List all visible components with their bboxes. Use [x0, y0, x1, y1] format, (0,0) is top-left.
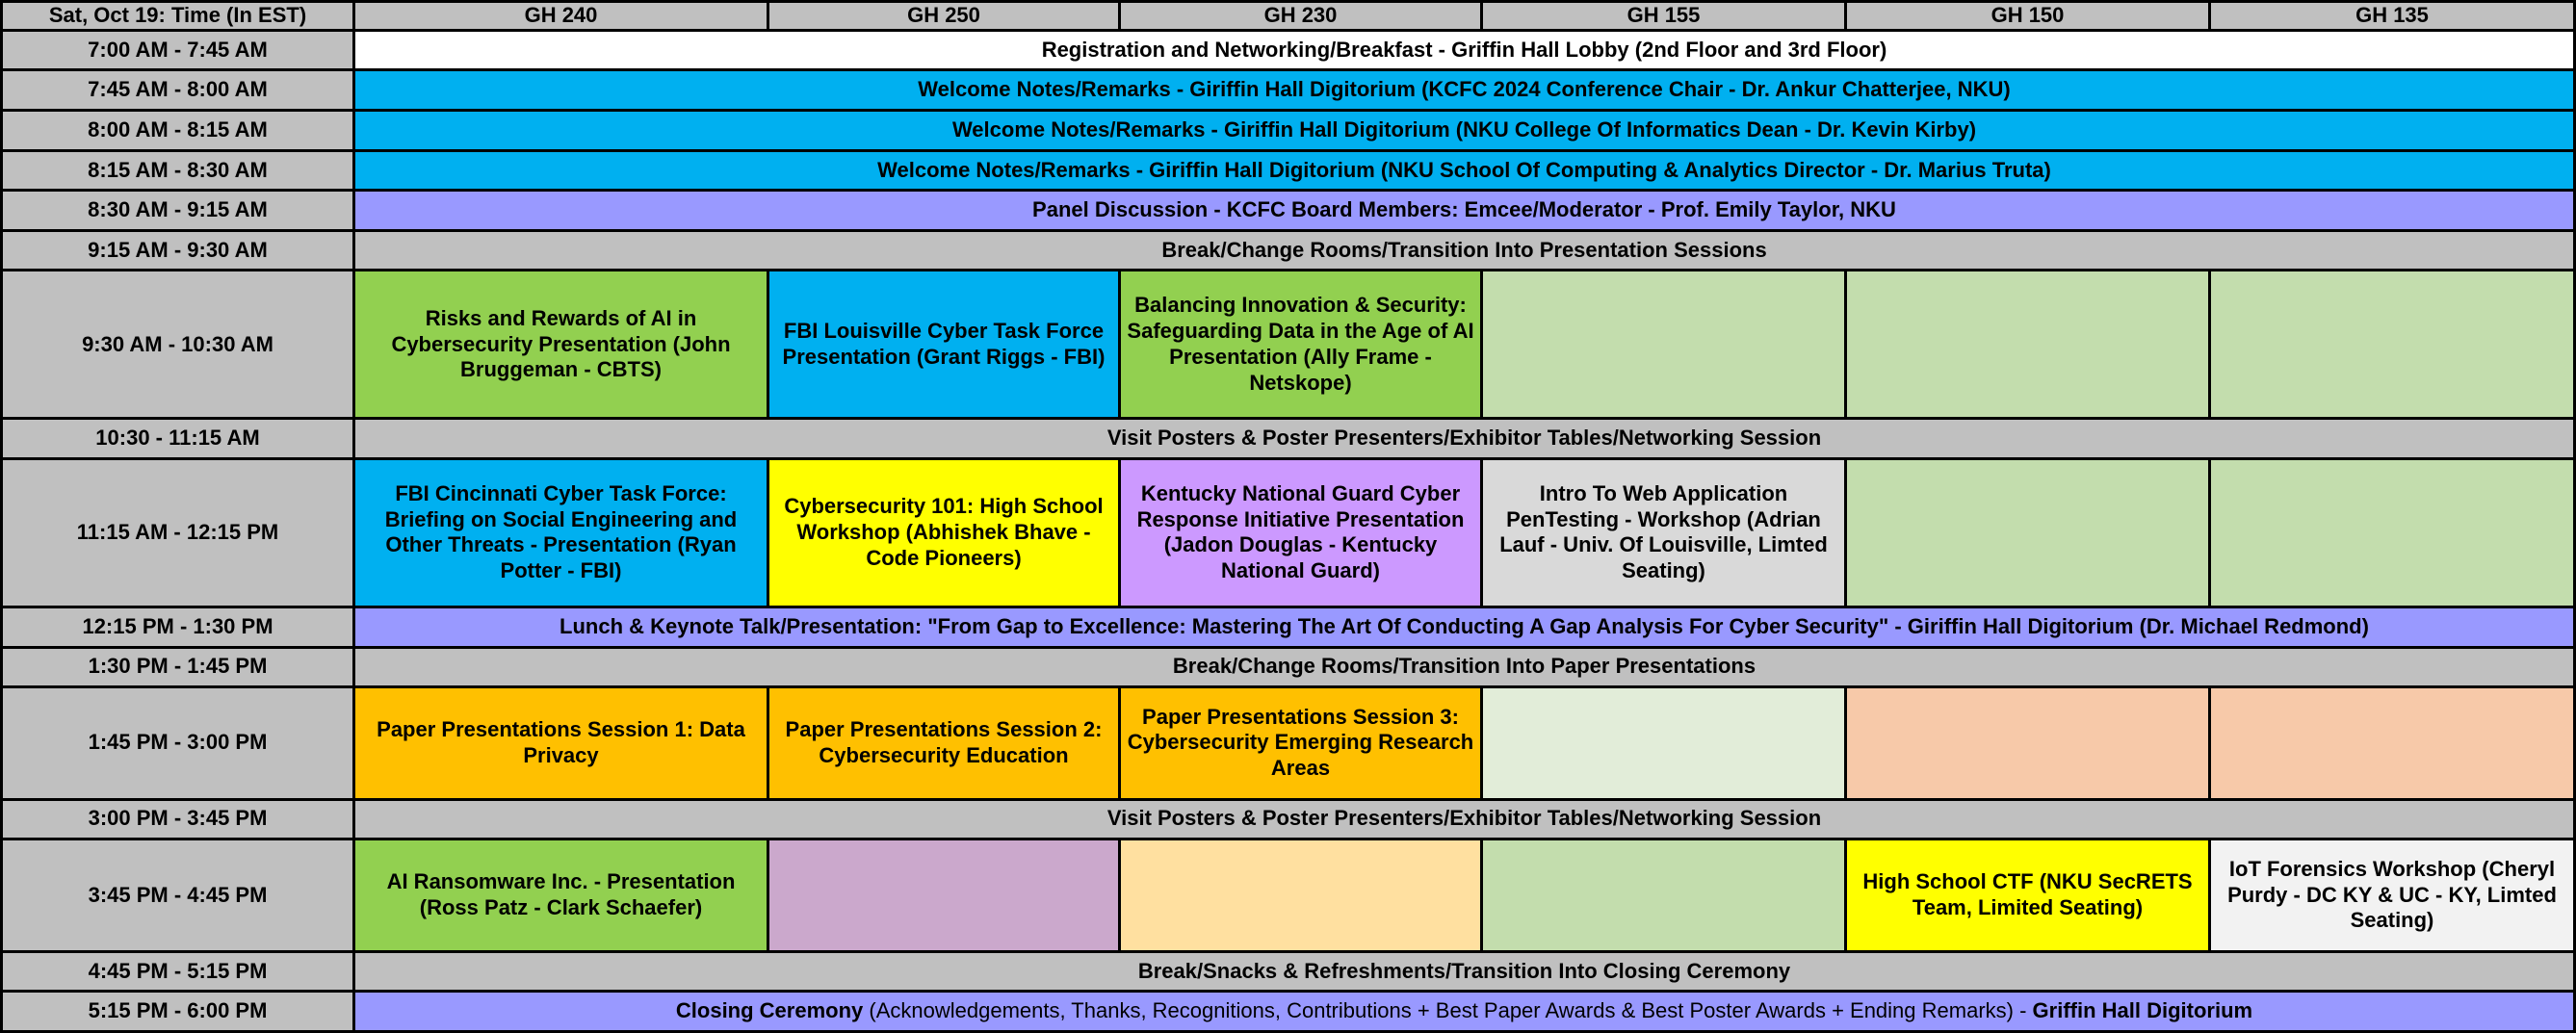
- session-cell: AI Ransomware Inc. - Presentation (Ross …: [354, 839, 768, 951]
- conference-schedule-table: Sat, Oct 19: Time (In EST) GH 240 GH 250…: [0, 0, 2576, 1033]
- schedule-row: 3:45 PM - 4:45 PMAI Ransomware Inc. - Pr…: [2, 839, 2575, 951]
- session-cell: Balancing Innovation & Security: Safegua…: [1120, 271, 1482, 419]
- session-cell: Intro To Web Application PenTesting - Wo…: [1482, 459, 1846, 607]
- session-cell-empty: [1482, 839, 1846, 951]
- header-time-column: Sat, Oct 19: Time (In EST): [2, 2, 354, 31]
- session-cell-fullwidth: Break/Snacks & Refreshments/Transition I…: [354, 951, 2575, 992]
- session-cell-empty: [1482, 271, 1846, 419]
- time-slot-label: 4:45 PM - 5:15 PM: [2, 951, 354, 992]
- time-slot-label: 9:30 AM - 10:30 AM: [2, 271, 354, 419]
- header-room-gh240: GH 240: [354, 2, 768, 31]
- session-text-part: Closing Ceremony: [676, 998, 863, 1022]
- session-cell: IoT Forensics Workshop (Cheryl Purdy - D…: [2210, 839, 2575, 951]
- session-cell-empty: [1846, 271, 2210, 419]
- time-slot-label: 12:15 PM - 1:30 PM: [2, 607, 354, 647]
- session-cell-fullwidth: Visit Posters & Poster Presenters/Exhibi…: [354, 799, 2575, 839]
- header-room-gh230: GH 230: [1120, 2, 1482, 31]
- schedule-row: 11:15 AM - 12:15 PMFBI Cincinnati Cyber …: [2, 459, 2575, 607]
- session-cell-fullwidth: Break/Change Rooms/Transition Into Prese…: [354, 230, 2575, 271]
- schedule-row: 7:00 AM - 7:45 AMRegistration and Networ…: [2, 30, 2575, 70]
- session-cell-fullwidth: Panel Discussion - KCFC Board Members: E…: [354, 191, 2575, 231]
- session-cell-empty: [1482, 687, 1846, 799]
- time-slot-label: 3:45 PM - 4:45 PM: [2, 839, 354, 951]
- session-cell-empty: [768, 839, 1120, 951]
- header-room-gh150: GH 150: [1846, 2, 2210, 31]
- session-cell-fullwidth: Closing Ceremony (Acknowledgements, Than…: [354, 992, 2575, 1032]
- time-slot-label: 1:30 PM - 1:45 PM: [2, 647, 354, 687]
- schedule-row: 8:15 AM - 8:30 AMWelcome Notes/Remarks -…: [2, 150, 2575, 191]
- session-cell-empty: [1120, 839, 1482, 951]
- schedule-row: 3:00 PM - 3:45 PMVisit Posters & Poster …: [2, 799, 2575, 839]
- schedule-row: 9:30 AM - 10:30 AMRisks and Rewards of A…: [2, 271, 2575, 419]
- time-slot-label: 8:30 AM - 9:15 AM: [2, 191, 354, 231]
- table-header-row: Sat, Oct 19: Time (In EST) GH 240 GH 250…: [2, 2, 2575, 31]
- header-room-gh155: GH 155: [1482, 2, 1846, 31]
- schedule-row: 7:45 AM - 8:00 AMWelcome Notes/Remarks -…: [2, 70, 2575, 111]
- session-cell-empty: [2210, 687, 2575, 799]
- session-cell: Paper Presentations Session 2: Cybersecu…: [768, 687, 1120, 799]
- time-slot-label: 10:30 - 11:15 AM: [2, 419, 354, 459]
- time-slot-label: 8:00 AM - 8:15 AM: [2, 111, 354, 151]
- session-cell: Cybersecurity 101: High School Workshop …: [768, 459, 1120, 607]
- schedule-row: 8:00 AM - 8:15 AMWelcome Notes/Remarks -…: [2, 111, 2575, 151]
- time-slot-label: 8:15 AM - 8:30 AM: [2, 150, 354, 191]
- session-cell: FBI Louisville Cyber Task Force Presenta…: [768, 271, 1120, 419]
- schedule-row: 1:45 PM - 3:00 PMPaper Presentations Ses…: [2, 687, 2575, 799]
- session-cell: FBI Cincinnati Cyber Task Force: Briefin…: [354, 459, 768, 607]
- session-cell-fullwidth: Welcome Notes/Remarks - Giriffin Hall Di…: [354, 111, 2575, 151]
- session-cell-empty: [2210, 459, 2575, 607]
- session-cell: Paper Presentations Session 3: Cybersecu…: [1120, 687, 1482, 799]
- schedule-row: 9:15 AM - 9:30 AMBreak/Change Rooms/Tran…: [2, 230, 2575, 271]
- time-slot-label: 1:45 PM - 3:00 PM: [2, 687, 354, 799]
- session-cell-empty: [1846, 459, 2210, 607]
- schedule-row: 4:45 PM - 5:15 PMBreak/Snacks & Refreshm…: [2, 951, 2575, 992]
- schedule-row: 8:30 AM - 9:15 AMPanel Discussion - KCFC…: [2, 191, 2575, 231]
- time-slot-label: 7:00 AM - 7:45 AM: [2, 30, 354, 70]
- time-slot-label: 11:15 AM - 12:15 PM: [2, 459, 354, 607]
- header-room-gh135: GH 135: [2210, 2, 2575, 31]
- schedule-row: 1:30 PM - 1:45 PMBreak/Change Rooms/Tran…: [2, 647, 2575, 687]
- session-cell-empty: [2210, 271, 2575, 419]
- session-cell-fullwidth: Visit Posters & Poster Presenters/Exhibi…: [354, 419, 2575, 459]
- session-cell-fullwidth: Welcome Notes/Remarks - Giriffin Hall Di…: [354, 150, 2575, 191]
- session-cell: Paper Presentations Session 1: Data Priv…: [354, 687, 768, 799]
- schedule-row: 5:15 PM - 6:00 PMClosing Ceremony (Ackno…: [2, 992, 2575, 1032]
- session-cell-fullwidth: Registration and Networking/Breakfast - …: [354, 30, 2575, 70]
- session-text-part: (Acknowledgements, Thanks, Recognitions,…: [863, 998, 2032, 1022]
- schedule-body: 7:00 AM - 7:45 AMRegistration and Networ…: [2, 30, 2575, 1031]
- time-slot-label: 7:45 AM - 8:00 AM: [2, 70, 354, 111]
- session-cell-fullwidth: Break/Change Rooms/Transition Into Paper…: [354, 647, 2575, 687]
- time-slot-label: 9:15 AM - 9:30 AM: [2, 230, 354, 271]
- session-cell-fullwidth: Welcome Notes/Remarks - Giriffin Hall Di…: [354, 70, 2575, 111]
- time-slot-label: 5:15 PM - 6:00 PM: [2, 992, 354, 1032]
- schedule-row: 12:15 PM - 1:30 PMLunch & Keynote Talk/P…: [2, 607, 2575, 647]
- session-cell: Kentucky National Guard Cyber Response I…: [1120, 459, 1482, 607]
- header-room-gh250: GH 250: [768, 2, 1120, 31]
- session-cell-empty: [1846, 687, 2210, 799]
- session-text-part: Griffin Hall Digitorium: [2033, 998, 2253, 1022]
- time-slot-label: 3:00 PM - 3:45 PM: [2, 799, 354, 839]
- session-cell-fullwidth: Lunch & Keynote Talk/Presentation: "From…: [354, 607, 2575, 647]
- schedule-row: 10:30 - 11:15 AMVisit Posters & Poster P…: [2, 419, 2575, 459]
- session-cell: High School CTF (NKU SecRETS Team, Limit…: [1846, 839, 2210, 951]
- session-cell: Risks and Rewards of AI in Cybersecurity…: [354, 271, 768, 419]
